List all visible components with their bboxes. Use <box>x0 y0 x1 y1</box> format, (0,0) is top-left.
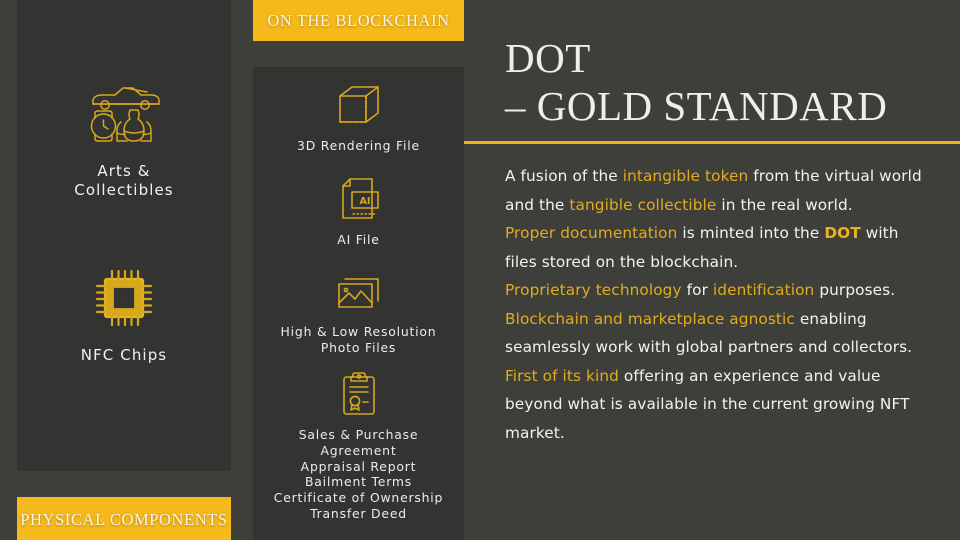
slide-root: Arts & Collectibles <box>0 0 960 540</box>
photo-stack-icon <box>253 267 464 315</box>
body-paragraph-3: Proprietary technology for identificatio… <box>505 276 935 305</box>
body-copy: A fusion of the intangible token from th… <box>505 162 935 447</box>
item-label: Sales & Purchase Agreement Appraisal Rep… <box>253 427 464 522</box>
text-fragment: in the real world. <box>716 196 852 214</box>
text-fragment: is minted into the <box>677 224 824 242</box>
highlight-blockchain-agnostic: Blockchain and marketplace agnostic <box>505 310 795 328</box>
banner-label: ON THE BLOCKCHAIN <box>267 11 449 31</box>
highlight-intangible-token: intangible token <box>623 167 749 185</box>
body-paragraph-4: Blockchain and marketplace agnostic enab… <box>505 305 935 362</box>
physical-components-card: Arts & Collectibles <box>17 0 231 471</box>
highlight-first-of-its-kind: First of its kind <box>505 367 619 385</box>
feature-arts-collectibles[interactable]: Arts & Collectibles <box>17 78 231 200</box>
item-label: 3D Rendering File <box>253 138 464 154</box>
body-paragraph-1: A fusion of the intangible token from th… <box>505 162 935 219</box>
body-paragraph-5: First of its kind offering an experience… <box>505 362 935 448</box>
feature-label: Arts & Collectibles <box>17 162 231 200</box>
highlight-dot: DOT <box>824 224 860 242</box>
blockchain-item-ai-file[interactable]: AI AI File <box>253 175 464 248</box>
text-fragment: for <box>682 281 713 299</box>
feature-nfc-chips[interactable]: NFC Chips <box>17 262 231 365</box>
body-paragraph-2: Proper documentation is minted into the … <box>505 219 935 276</box>
on-the-blockchain-banner[interactable]: ON THE BLOCKCHAIN <box>253 0 464 41</box>
item-label: AI File <box>253 232 464 248</box>
feature-label: NFC Chips <box>17 346 231 365</box>
arts-collectibles-icon <box>17 78 231 150</box>
svg-text:AI: AI <box>359 196 370 207</box>
page-title: DOT – GOLD STANDARD <box>505 35 945 131</box>
highlight-proper-documentation: Proper documentation <box>505 224 677 242</box>
blockchain-item-documents[interactable]: Sales & Purchase Agreement Appraisal Rep… <box>253 370 464 522</box>
text-fragment: A fusion of the <box>505 167 623 185</box>
title-line-1: DOT <box>505 35 945 83</box>
banner-label: PHYSICAL COMPONENTS <box>20 510 227 530</box>
ai-file-icon: AI <box>253 175 464 223</box>
blockchain-item-3d-rendering-file[interactable]: 3D Rendering File <box>253 81 464 154</box>
title-divider <box>464 141 960 144</box>
highlight-identification: identification <box>713 281 814 299</box>
blockchain-item-photo-files[interactable]: High & Low Resolution Photo Files <box>253 267 464 356</box>
item-label: High & Low Resolution Photo Files <box>253 324 464 356</box>
physical-components-banner[interactable]: PHYSICAL COMPONENTS <box>17 497 231 540</box>
blockchain-assets-card: 3D Rendering File AI AI File <box>253 67 464 540</box>
nfc-chip-icon <box>17 262 231 334</box>
right-content-panel: DOT – GOLD STANDARD A fusion of the inta… <box>464 0 960 540</box>
certificate-clipboard-icon <box>253 370 464 418</box>
highlight-proprietary-technology: Proprietary technology <box>505 281 682 299</box>
title-line-2: – GOLD STANDARD <box>505 83 945 131</box>
text-fragment: purposes. <box>814 281 895 299</box>
3d-cube-icon <box>253 81 464 129</box>
highlight-tangible-collectible: tangible collectible <box>569 196 716 214</box>
